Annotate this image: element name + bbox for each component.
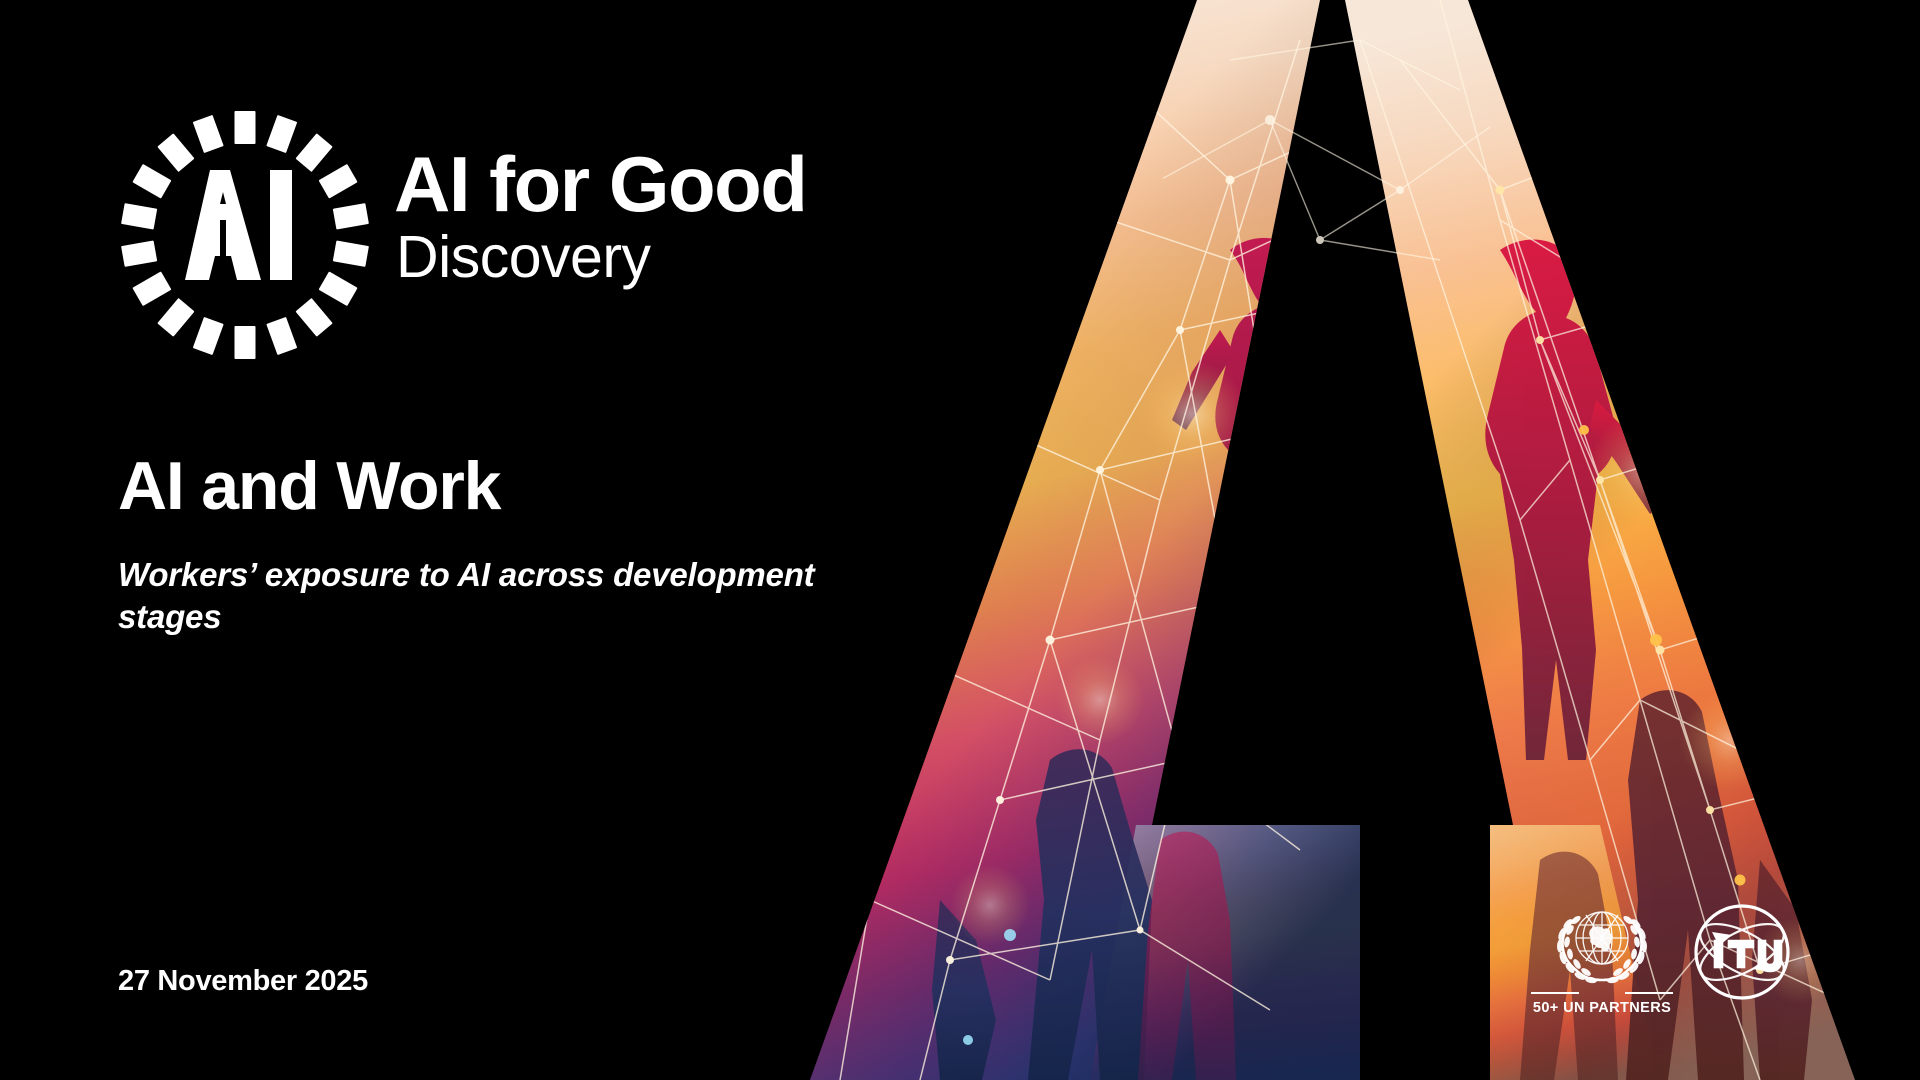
un-partners-caption: 50+ UN PARTNERS	[1531, 1000, 1673, 1016]
un-partners-badge: 50+ UN PARTNERS	[1546, 898, 1658, 1016]
un-emblem-icon	[1546, 898, 1658, 990]
rule-left	[1531, 992, 1579, 994]
slide-root: AI for Good Discovery AI and Work Worker…	[0, 0, 1920, 1080]
brand-wordmark: AI for Good Discovery	[394, 108, 806, 290]
headline-block: AI and Work Workers’ exposure to AI acro…	[118, 452, 928, 638]
page-subtitle: Workers’ exposure to AI across developme…	[118, 554, 908, 638]
ai-monogram	[185, 170, 292, 280]
un-caption-rules	[1531, 992, 1673, 994]
ai-for-good-circle-logo	[118, 108, 372, 362]
page-title: AI and Work	[118, 452, 928, 520]
itu-logo-badge	[1692, 898, 1792, 1002]
partner-badges: 50+ UN PARTNERS	[1546, 898, 1792, 1016]
text-column: AI for Good Discovery AI and Work Worker…	[0, 0, 960, 1080]
presentation-date: 27 November 2025	[118, 965, 368, 998]
brand-line-1: AI for Good	[394, 146, 806, 222]
brand-lockup: AI for Good Discovery	[118, 108, 806, 362]
itu-logo-icon	[1692, 902, 1792, 1002]
rule-right	[1625, 992, 1673, 994]
brand-line-2: Discovery	[396, 226, 806, 290]
